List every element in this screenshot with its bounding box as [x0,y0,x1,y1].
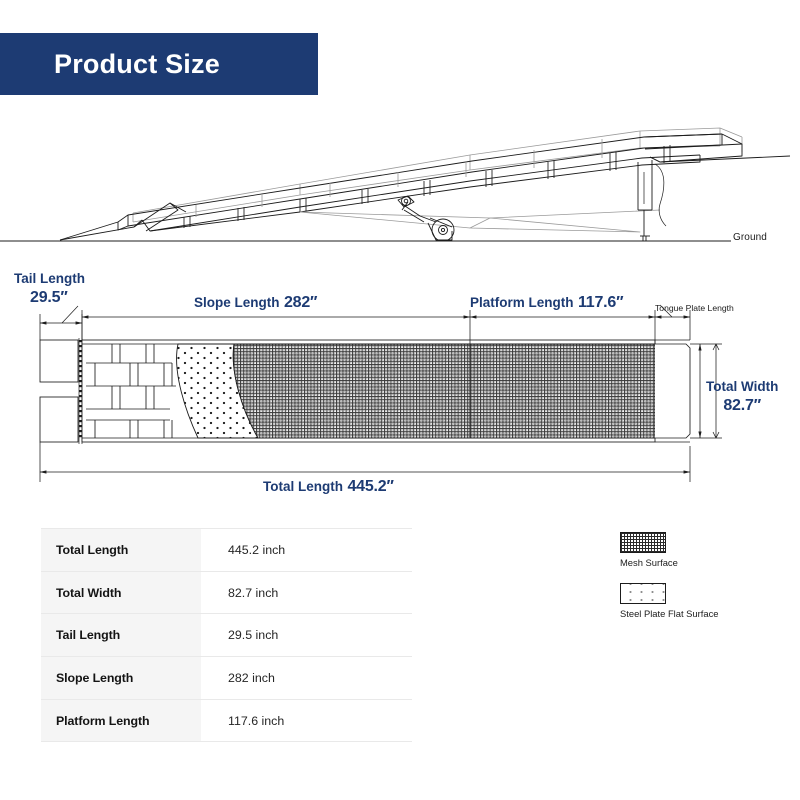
callout-tail-length-value: 29.5′′ [30,289,85,307]
spec-key: Slope Length [41,657,201,700]
callout-slope-length-label: Slope Length [194,295,280,310]
spec-value: 445.2 inch [201,529,412,572]
ground-label: Ground [733,232,767,243]
legend-item-mesh: Mesh Surface [620,532,790,568]
legend-item-plate: Steel Plate Flat Surface [620,583,790,619]
spec-value: 29.5 inch [201,614,412,657]
spec-value: 282 inch [201,657,412,700]
table-row: Platform Length 117.6 inch [41,699,412,742]
callout-tail-length-label: Tail Length [14,271,85,286]
page-title: Product Size [54,49,220,80]
ramp-perspective-drawing [0,100,800,252]
table-row: Total Length 445.2 inch [41,529,412,572]
table-row: Tail Length 29.5 inch [41,614,412,657]
spec-key: Total Width [41,571,201,614]
callout-total-length-label: Total Length [263,479,343,494]
spec-value: 117.6 inch [201,699,412,742]
specification-table-body: Total Length 445.2 inch Total Width 82.7… [41,529,412,742]
steel-plate-surface-swatch-icon [620,583,666,604]
callout-total-length-value: 445.2′′ [347,478,393,495]
callout-total-width-value: 82.7′′ [706,397,778,415]
callout-total-width: Total Width 82.7′′ [706,378,778,415]
callout-platform-length: Platform Length 117.6′′ [470,294,623,312]
table-row: Total Width 82.7 inch [41,571,412,614]
product-size-infographic: Product Size [0,0,800,800]
legend-label-mesh: Mesh Surface [620,557,790,568]
callout-tongue-plate-length: Tongue Plate Length [655,303,734,313]
callout-total-length: Total Length 445.2′′ [263,478,394,496]
callout-platform-length-value: 117.6′′ [578,294,623,311]
specification-table: Total Length 445.2 inch Total Width 82.7… [41,528,412,742]
spec-key: Tail Length [41,614,201,657]
ramp-plan-view [0,300,800,500]
spec-key: Platform Length [41,699,201,742]
surface-legend: Mesh Surface Steel Plate Flat Surface [620,532,790,634]
table-row: Slope Length 282 inch [41,657,412,700]
legend-label-plate: Steel Plate Flat Surface [620,608,790,619]
callout-tail-length: Tail Length 29.5′′ [14,270,85,307]
mesh-surface-swatch-icon [620,532,666,553]
callout-platform-length-label: Platform Length [470,295,574,310]
callout-slope-length-value: 282′′ [284,294,317,311]
product-size-banner: Product Size [0,33,318,95]
callout-total-width-label: Total Width [706,379,778,394]
spec-key: Total Length [41,529,201,572]
spec-value: 82.7 inch [201,571,412,614]
callout-slope-length: Slope Length 282′′ [194,294,317,312]
